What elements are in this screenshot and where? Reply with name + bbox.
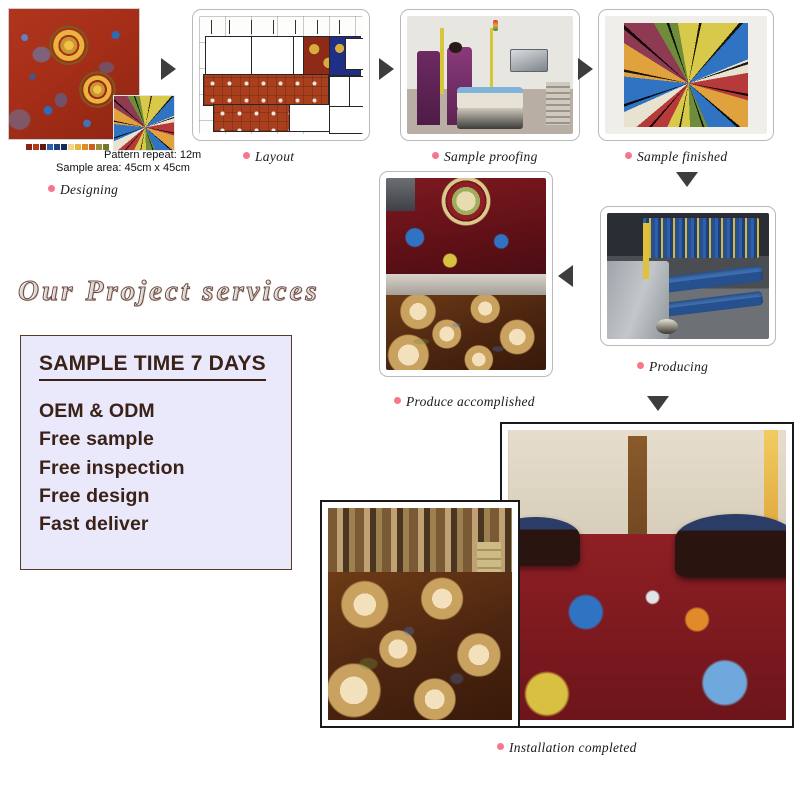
safety-post	[643, 223, 649, 278]
installation-photo-right	[500, 422, 794, 728]
gaming-table	[675, 514, 786, 578]
plan-tick	[211, 20, 212, 34]
casino-photo-artwork	[508, 430, 786, 720]
plan-tick	[229, 20, 230, 34]
service-item: Free sample	[39, 425, 291, 453]
bullet-dot-icon	[432, 152, 439, 159]
plan-room	[289, 104, 331, 132]
plan-tick	[339, 20, 340, 34]
sample-proofing-card	[400, 9, 580, 141]
bullet-dot-icon	[48, 185, 55, 192]
swatch-chip	[96, 144, 102, 150]
services-box: SAMPLE TIME 7 DAYS OEM & ODM Free sample…	[20, 335, 292, 570]
glass-pattern-artwork	[114, 96, 174, 150]
plan-room	[251, 36, 295, 76]
arrow-proofing-to-finished-icon	[578, 58, 593, 80]
bullet-dot-icon	[243, 152, 250, 159]
layout-card	[192, 9, 370, 141]
factory-equipment	[386, 178, 415, 211]
bullet-dot-icon	[394, 397, 401, 404]
plan-room	[329, 76, 351, 108]
produce-accomplished-card	[379, 171, 553, 377]
swatch-chip	[33, 144, 39, 150]
showroom-photo-artwork	[328, 508, 512, 720]
plan-room	[205, 36, 253, 76]
service-item: OEM & ODM	[39, 397, 291, 425]
swatch-chip	[40, 144, 46, 150]
plan-tick	[273, 20, 274, 34]
service-item: Fast deliver	[39, 510, 291, 538]
plan-tick	[317, 20, 318, 34]
worker-figure	[417, 51, 440, 124]
workflow-infographic: Pattern repeat: 12m Sample area: 45cm x …	[0, 0, 800, 800]
swatch-chip	[26, 144, 32, 150]
arrow-design-to-layout-icon	[161, 58, 176, 80]
designing-inset-image	[113, 95, 175, 151]
machine-console	[457, 87, 523, 111]
shelf-rack	[546, 82, 569, 124]
sample-finished-card	[598, 9, 774, 141]
producing-photo-artwork	[607, 213, 769, 339]
bullet-dot-icon	[497, 743, 504, 750]
roll-core	[656, 319, 679, 334]
plan-room	[345, 38, 363, 70]
machine-post	[440, 28, 443, 94]
caption-layout: Layout	[243, 148, 294, 165]
yarn-warp	[643, 218, 760, 258]
sample-swatch	[624, 23, 747, 127]
arrow-accomplished-to-installation-icon	[647, 396, 669, 411]
caption-producing: Producing	[637, 358, 708, 375]
caption-sample-finished: Sample finished	[625, 148, 727, 165]
swatch-chip	[47, 144, 53, 150]
sample-time-headline: SAMPLE TIME 7 DAYS	[39, 352, 266, 381]
plan-carpet-main	[213, 104, 291, 132]
produce-accomplished-photos	[386, 178, 546, 370]
bullet-dot-icon	[625, 152, 632, 159]
monitor-screen	[510, 49, 549, 72]
machine-base	[457, 108, 523, 129]
caption-produce-accomplished: Produce accomplished	[394, 393, 535, 410]
glass-pattern-artwork	[624, 23, 747, 127]
caption-designing: Designing	[48, 181, 118, 198]
swatch-chip	[75, 144, 81, 150]
floral-carpet-artwork	[328, 572, 512, 720]
bullet-dot-icon	[637, 362, 644, 369]
producing-card	[600, 206, 776, 346]
plan-room	[329, 106, 363, 134]
plan-tick	[295, 20, 296, 34]
signal-tower-icon	[493, 20, 498, 32]
swatch-chip	[89, 144, 95, 150]
sample-finished-photo	[605, 16, 767, 134]
floral-carpet-artwork	[386, 295, 546, 370]
swatch-chip	[61, 144, 67, 150]
corridor-carpet	[328, 572, 512, 720]
caption-sample-proofing: Sample proofing	[432, 148, 538, 165]
plan-tick	[251, 20, 252, 34]
machine-post	[490, 28, 493, 89]
carpet-roll	[386, 295, 546, 370]
swatch-chip	[68, 144, 74, 150]
plan-carpet-main	[203, 74, 329, 106]
service-item: Free design	[39, 482, 291, 510]
project-services-title: Our Project services	[18, 275, 320, 308]
swatch-chip	[54, 144, 60, 150]
swatch-chip	[82, 144, 88, 150]
color-swatch-strip	[26, 144, 109, 150]
finished-carpet-photo-bottom	[386, 274, 546, 370]
arrow-layout-to-proofing-icon	[379, 58, 394, 80]
worker-head	[449, 42, 462, 53]
layout-floorplan-artwork	[199, 16, 363, 134]
service-item: Free inspection	[39, 454, 291, 482]
installation-photo-left	[320, 500, 520, 728]
arrow-finished-to-producing-icon	[676, 172, 698, 187]
plan-room	[349, 76, 363, 108]
pattern-repeat-text: Pattern repeat: 12m	[104, 149, 201, 161]
finished-carpet-photo-top	[386, 178, 546, 274]
arrow-producing-to-accomplished-icon	[558, 265, 573, 287]
proofing-photo-artwork	[407, 16, 573, 134]
sample-area-text: Sample area: 45cm x 45cm	[56, 162, 190, 174]
caption-installation-completed: Installation completed	[497, 739, 637, 756]
